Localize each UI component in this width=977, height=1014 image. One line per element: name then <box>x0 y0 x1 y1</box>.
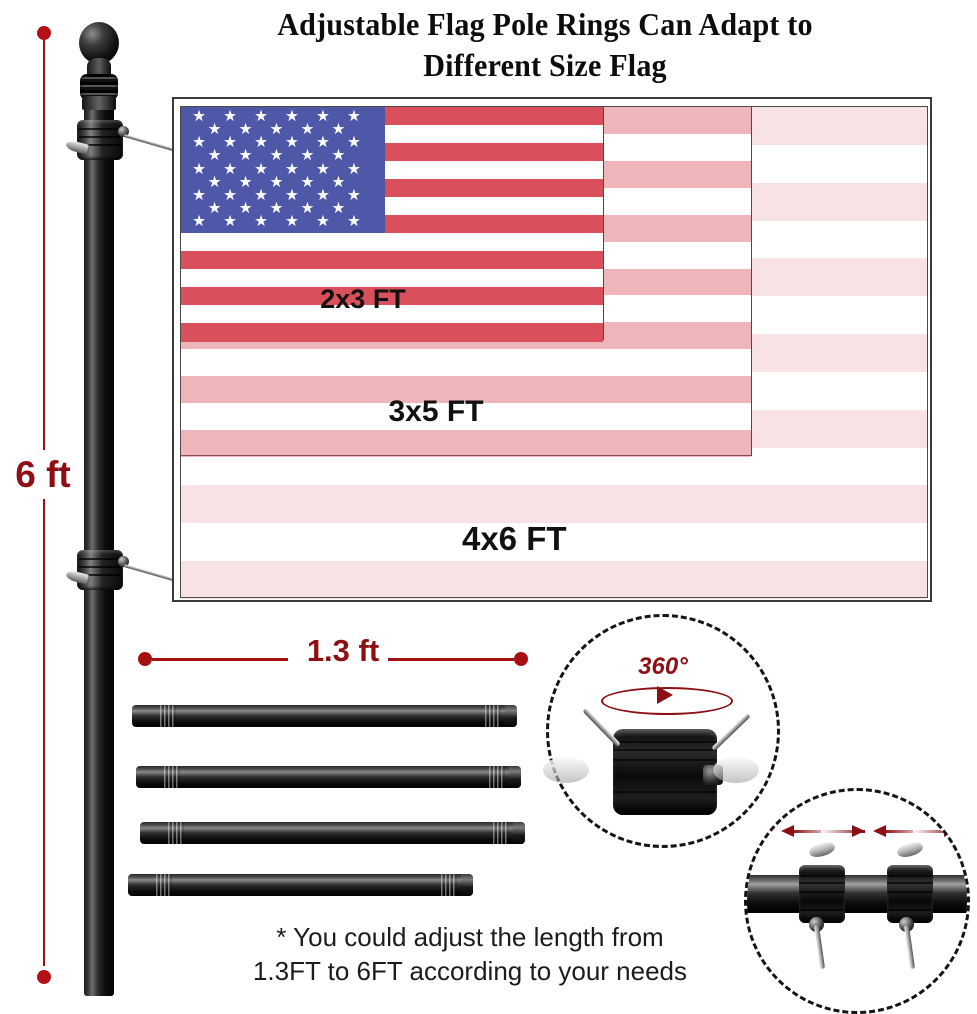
star-icon: ★ <box>270 201 284 216</box>
dimension-dot-right-icon <box>514 652 528 666</box>
title-line-2: Different Size Flag <box>174 45 917 86</box>
star-icon: ★ <box>301 175 315 190</box>
star-icon: ★ <box>270 175 284 190</box>
dimension-line-right <box>388 658 514 661</box>
star-icon: ★ <box>223 188 237 203</box>
clip-stem-right-icon <box>711 713 750 751</box>
flag-stripe <box>181 485 927 523</box>
star-icon: ★ <box>223 135 237 150</box>
flag-stripe <box>181 561 927 599</box>
star-icon: ★ <box>301 148 315 163</box>
star-icon: ★ <box>270 148 284 163</box>
star-icon: ★ <box>208 148 222 163</box>
star-icon: ★ <box>208 122 222 137</box>
slide-clip-tab-right-icon <box>896 840 925 860</box>
star-icon: ★ <box>208 175 222 190</box>
slide-arrows-left <box>781 823 865 839</box>
flag-4x6-label: 4x6 FT <box>462 520 567 558</box>
star-icon: ★ <box>208 201 222 216</box>
star-icon: ★ <box>254 162 268 177</box>
star-icon: ★ <box>316 214 330 229</box>
star-icon: ★ <box>316 188 330 203</box>
star-icon: ★ <box>331 201 345 216</box>
segment-rib-band-left <box>160 705 176 727</box>
flag-stripe <box>181 233 603 252</box>
title-line-1: Adjustable Flag Pole Rings Can Adapt to <box>174 4 917 45</box>
slide-pin-right-icon <box>904 925 915 969</box>
rotation-label: 360° <box>549 653 777 681</box>
star-icon: ★ <box>347 214 361 229</box>
star-icon: ★ <box>223 162 237 177</box>
star-icon: ★ <box>347 109 361 124</box>
horizontal-pole-shaft <box>744 875 970 913</box>
star-icon: ★ <box>192 162 206 177</box>
star-icon: ★ <box>347 135 361 150</box>
star-icon: ★ <box>331 175 345 190</box>
clip-stem-left-icon <box>582 708 620 747</box>
star-icon: ★ <box>254 109 268 124</box>
star-icon: ★ <box>285 188 299 203</box>
star-icon: ★ <box>316 162 330 177</box>
star-icon: ★ <box>285 109 299 124</box>
star-icon: ★ <box>192 214 206 229</box>
flag-stripe <box>181 430 751 457</box>
dimension-dot-top-icon <box>37 26 51 40</box>
segment-end-cap <box>461 874 473 896</box>
flag-2x3-label: 2x3 FT <box>320 284 406 315</box>
pole-height-dimension: 6 ft <box>31 14 57 984</box>
rotation-detail-circle: 360° <box>546 614 780 848</box>
flag-size-comparison-box: ★★★★★★★★★★★★★★★★★★★★★★★★★★★★★★★★★★★★★★★★… <box>172 97 932 602</box>
segment-rib-band-right <box>493 822 509 844</box>
rotation-arrowhead-icon <box>657 686 673 704</box>
star-icon: ★ <box>301 122 315 137</box>
star-icon: ★ <box>347 188 361 203</box>
star-icon: ★ <box>239 148 253 163</box>
slide-detail-circle <box>744 788 970 1014</box>
slide-arrows-right <box>873 823 957 839</box>
dimension-line-left <box>152 658 288 661</box>
clip-wing-left-icon <box>543 757 589 783</box>
star-icon: ★ <box>239 175 253 190</box>
dimension-line <box>43 32 45 966</box>
star-icon: ★ <box>223 214 237 229</box>
star-icon: ★ <box>192 135 206 150</box>
flag-stripe <box>181 251 603 270</box>
page-title: Adjustable Flag Pole Rings Can Adapt to … <box>150 4 940 86</box>
star-icon: ★ <box>331 148 345 163</box>
star-icon: ★ <box>223 109 237 124</box>
segment-rib-band-right <box>485 705 501 727</box>
star-icon: ★ <box>254 214 268 229</box>
slide-clip-tab-left-icon <box>808 840 837 860</box>
segment-rib-band-right <box>489 766 505 788</box>
star-icon: ★ <box>285 214 299 229</box>
clip-wing-right-icon <box>713 757 759 783</box>
segment-end-cap <box>505 705 517 727</box>
caption-line-2: 1.3FT to 6FT according to your needs <box>205 954 735 988</box>
flag-3x5-label: 3x5 FT <box>389 395 484 429</box>
segment-end-cap <box>509 766 521 788</box>
star-icon: ★ <box>254 135 268 150</box>
segment-rib-band-left <box>156 874 172 896</box>
pole-segment-2 <box>136 766 521 788</box>
flag-stripe <box>181 349 751 376</box>
slide-pin-left-icon <box>814 925 825 969</box>
dimension-dot-bottom-icon <box>37 970 51 984</box>
star-icon: ★ <box>316 135 330 150</box>
segment-rib-band-left <box>164 766 180 788</box>
caption-line-1: * You could adjust the length from <box>205 920 735 954</box>
dimension-dot-left-icon <box>138 652 152 666</box>
star-icon: ★ <box>239 122 253 137</box>
segment-length-label: 1.3 ft <box>288 633 398 669</box>
slide-ring-clamp-right[interactable] <box>887 865 933 923</box>
slide-ring-clamp-left[interactable] <box>799 865 845 923</box>
segment-length-dimension: 1.3 ft <box>138 645 528 675</box>
star-icon: ★ <box>270 122 284 137</box>
star-icon: ★ <box>254 188 268 203</box>
star-icon: ★ <box>331 122 345 137</box>
star-icon: ★ <box>285 162 299 177</box>
segment-rib-band-left <box>168 822 184 844</box>
pole-segment-1 <box>132 705 517 727</box>
star-icon: ★ <box>285 135 299 150</box>
star-icon: ★ <box>316 109 330 124</box>
star-icon: ★ <box>347 162 361 177</box>
flag-stripe <box>181 323 603 342</box>
star-icon: ★ <box>301 201 315 216</box>
flag-canton: ★★★★★★★★★★★★★★★★★★★★★★★★★★★★★★★★★★★★★★★★… <box>181 107 385 233</box>
pole-finial-base <box>82 96 116 110</box>
footer-caption: * You could adjust the length from 1.3FT… <box>205 920 735 989</box>
ring-clamp-closeup[interactable] <box>613 729 717 815</box>
segment-end-cap <box>513 822 525 844</box>
pole-segment-3 <box>140 822 525 844</box>
segment-rib-band-right <box>441 874 457 896</box>
star-icon: ★ <box>192 109 206 124</box>
star-icon: ★ <box>192 188 206 203</box>
pole-segment-4 <box>128 874 473 896</box>
flag-pole <box>68 10 130 995</box>
star-icon: ★ <box>239 201 253 216</box>
